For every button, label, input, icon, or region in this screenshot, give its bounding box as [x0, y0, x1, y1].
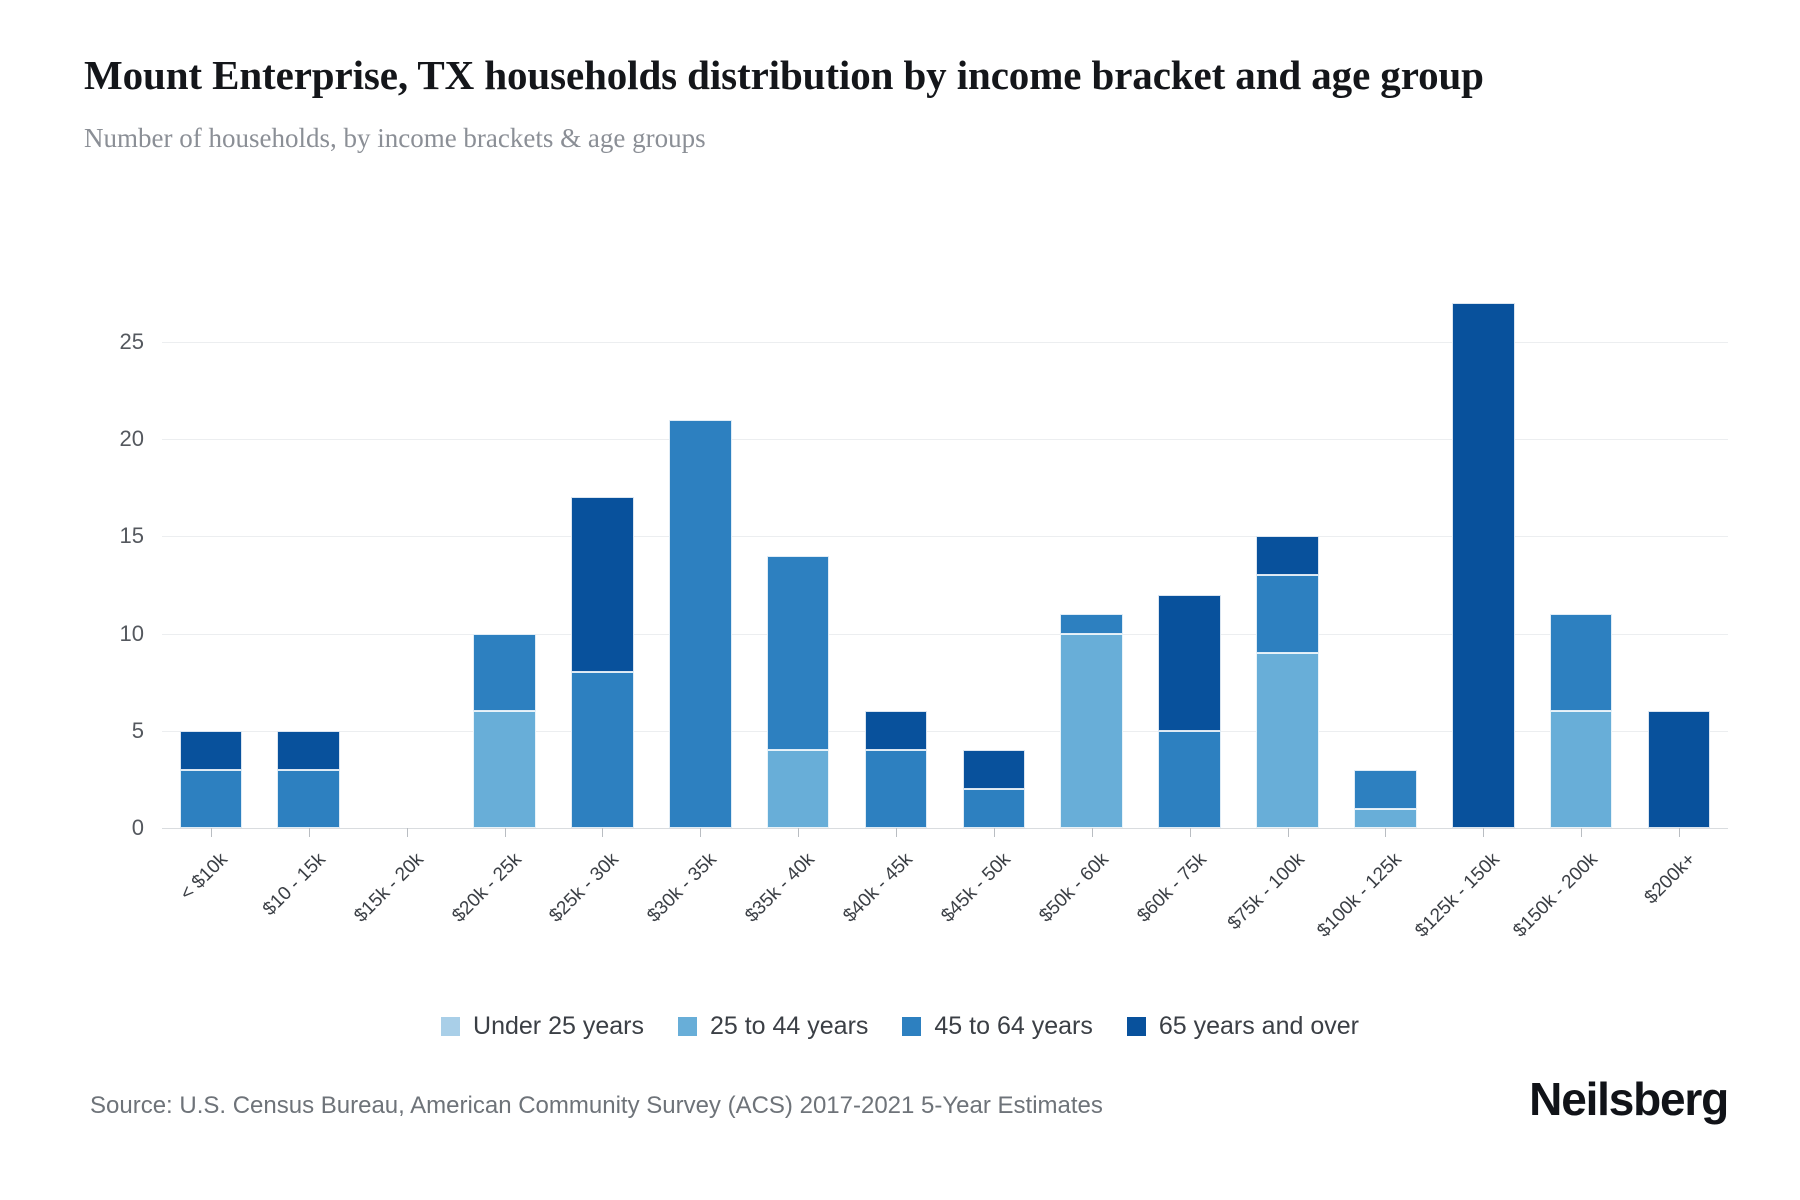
x-axis-tick-label: $100k - 125k: [1314, 849, 1407, 942]
bar-segment[interactable]: [1158, 731, 1221, 828]
y-axis-tick-label: 20: [64, 426, 144, 452]
bar-column[interactable]: [669, 420, 732, 828]
chart-header: Mount Enterprise, TX households distribu…: [84, 50, 1724, 154]
page-title: Mount Enterprise, TX households distribu…: [84, 50, 1704, 100]
bar-segment[interactable]: [865, 711, 928, 750]
bar-segment[interactable]: [1354, 770, 1417, 809]
x-axis-tickmark: [994, 828, 995, 837]
x-axis-tick-label: $125k - 150k: [1412, 849, 1505, 942]
bar-segment[interactable]: [669, 420, 732, 828]
bar-column[interactable]: [963, 750, 1026, 828]
x-axis-tick-label: $50k - 60k: [1035, 849, 1113, 927]
legend-item[interactable]: 45 to 64 years: [902, 1012, 1092, 1041]
x-axis-tick-label: $75k - 100k: [1223, 849, 1309, 935]
bar-segment[interactable]: [767, 556, 830, 750]
x-axis-tick-label: $30k - 35k: [644, 849, 722, 927]
x-axis-tickmark: [798, 828, 799, 837]
bar-segment[interactable]: [1354, 809, 1417, 828]
bar-segment[interactable]: [571, 497, 634, 672]
gridline: [162, 828, 1728, 829]
y-axis-tick-label: 15: [64, 523, 144, 549]
y-axis-tick-label: 0: [64, 815, 144, 841]
bar-column[interactable]: [1452, 303, 1515, 828]
bar-segment[interactable]: [1256, 536, 1319, 575]
chart-footer: Source: U.S. Census Bureau, American Com…: [0, 1080, 1800, 1150]
y-axis-tick-label: 5: [64, 718, 144, 744]
source-note: Source: U.S. Census Bureau, American Com…: [90, 1092, 1103, 1120]
x-axis-tickmark: [505, 828, 506, 837]
x-axis-tickmark: [407, 828, 408, 837]
bar-segment[interactable]: [1550, 711, 1613, 828]
bar-column[interactable]: [1550, 614, 1613, 828]
x-axis-tickmark: [1679, 828, 1680, 837]
x-axis-tick-label: $45k - 50k: [937, 849, 1015, 927]
chart-page: Mount Enterprise, TX households distribu…: [0, 0, 1800, 1200]
bar-column[interactable]: [1158, 595, 1221, 828]
bar-segment[interactable]: [277, 770, 340, 828]
bar-segment[interactable]: [1158, 595, 1221, 731]
x-axis-tickmark: [700, 828, 701, 837]
bars-group: [162, 303, 1728, 828]
bar-segment[interactable]: [1452, 303, 1515, 828]
bar-column[interactable]: [180, 731, 243, 828]
bar-segment[interactable]: [1060, 634, 1123, 828]
bar-segment[interactable]: [180, 770, 243, 828]
x-axis-tickmark: [1288, 828, 1289, 837]
x-axis-tickmark: [1385, 828, 1386, 837]
bar-segment[interactable]: [473, 634, 536, 712]
bar-segment[interactable]: [277, 731, 340, 770]
x-axis-tick-label: $10 - 15k: [259, 849, 331, 921]
bar-column[interactable]: [571, 497, 634, 828]
x-axis-tickmark: [602, 828, 603, 837]
legend-swatch-icon: [1127, 1017, 1146, 1036]
x-axis-tick-label: $40k - 45k: [839, 849, 917, 927]
legend-label: 65 years and over: [1159, 1012, 1359, 1041]
x-axis-tickmark: [211, 828, 212, 837]
bar-column[interactable]: [1060, 614, 1123, 828]
y-axis-tick-label: 10: [64, 621, 144, 647]
bar-segment[interactable]: [1550, 614, 1613, 711]
chart-plot-area: < $10k$10 - 15k$15k - 20k$20k - 25k$25k …: [0, 285, 1800, 905]
x-axis-tickmark: [896, 828, 897, 837]
x-axis-tick-label: $150k - 200k: [1510, 849, 1603, 942]
x-axis-tick-label: $200k+: [1641, 849, 1701, 909]
legend-swatch-icon: [902, 1017, 921, 1036]
bar-segment[interactable]: [865, 750, 928, 828]
bar-segment[interactable]: [571, 672, 634, 828]
x-axis-tick-label: $60k - 75k: [1133, 849, 1211, 927]
x-axis-tickmark: [1092, 828, 1093, 837]
chart-legend: Under 25 years25 to 44 years45 to 64 yea…: [0, 1012, 1800, 1041]
chart-subtitle: Number of households, by income brackets…: [84, 122, 1724, 154]
bar-segment[interactable]: [963, 750, 1026, 789]
legend-swatch-icon: [678, 1017, 697, 1036]
bar-segment[interactable]: [1648, 711, 1711, 828]
brand-logo: Neilsberg: [1529, 1072, 1728, 1126]
x-axis-tick-label: $25k - 30k: [546, 849, 624, 927]
x-axis-tick-label: $15k - 20k: [350, 849, 428, 927]
x-axis-tickmark: [309, 828, 310, 837]
legend-item[interactable]: Under 25 years: [441, 1012, 644, 1041]
legend-label: 45 to 64 years: [934, 1012, 1092, 1041]
bar-column[interactable]: [473, 634, 536, 828]
legend-label: Under 25 years: [473, 1012, 644, 1041]
plot-canvas: < $10k$10 - 15k$15k - 20k$20k - 25k$25k …: [162, 303, 1728, 828]
bar-segment[interactable]: [473, 711, 536, 828]
bar-segment[interactable]: [180, 731, 243, 770]
y-axis-tick-label: 25: [64, 329, 144, 355]
bar-segment[interactable]: [1256, 653, 1319, 828]
legend-item[interactable]: 65 years and over: [1127, 1012, 1359, 1041]
x-axis-tickmark: [1483, 828, 1484, 837]
bar-column[interactable]: [277, 731, 340, 828]
bar-segment[interactable]: [767, 750, 830, 828]
x-axis-tick-label: $20k - 25k: [448, 849, 526, 927]
legend-label: 25 to 44 years: [710, 1012, 868, 1041]
x-axis-tickmark: [1581, 828, 1582, 837]
bar-column[interactable]: [1354, 770, 1417, 828]
bar-segment[interactable]: [963, 789, 1026, 828]
bar-segment[interactable]: [1256, 575, 1319, 653]
bar-column[interactable]: [1648, 711, 1711, 828]
bar-column[interactable]: [767, 556, 830, 828]
bar-segment[interactable]: [1060, 614, 1123, 633]
x-axis-tick-label: < $10k: [176, 849, 232, 905]
x-axis-tick-label: $35k - 40k: [741, 849, 819, 927]
legend-swatch-icon: [441, 1017, 460, 1036]
x-axis-tickmark: [1190, 828, 1191, 837]
bar-column[interactable]: [1256, 536, 1319, 828]
bar-column[interactable]: [865, 711, 928, 828]
legend-item[interactable]: 25 to 44 years: [678, 1012, 868, 1041]
